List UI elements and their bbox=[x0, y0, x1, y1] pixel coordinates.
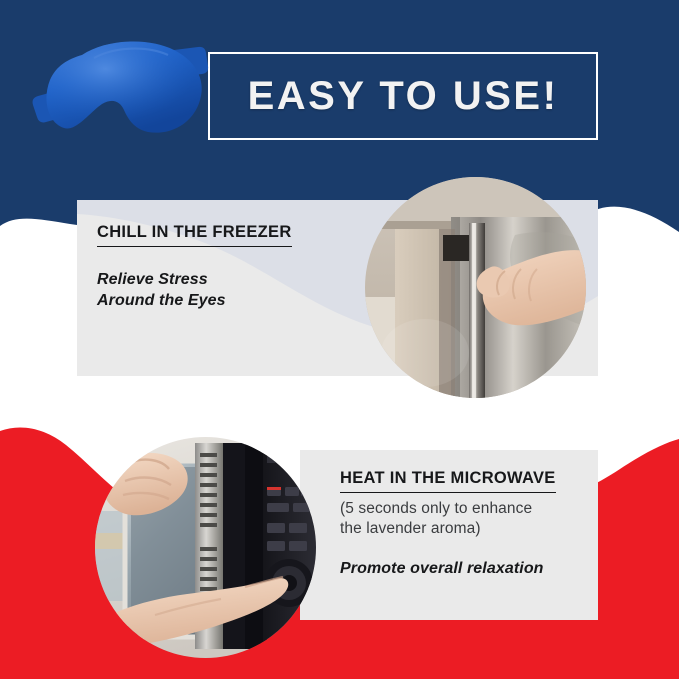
refrigerator-photo-graphic bbox=[365, 177, 586, 398]
step-text-chill: CHILL IN THE FREEZER Relieve Stress Arou… bbox=[97, 222, 347, 311]
step-note-heat-line1: (5 seconds only to enhance bbox=[340, 499, 590, 519]
eye-mask-product-image bbox=[24, 28, 234, 168]
step-heading-heat: HEAT IN THE MICROWAVE bbox=[340, 468, 556, 493]
step-benefit-chill-line1: Relieve Stress bbox=[97, 269, 347, 290]
step-heading-chill: CHILL IN THE FREEZER bbox=[97, 222, 292, 247]
microwave-photo-graphic bbox=[95, 437, 316, 658]
photo-refrigerator bbox=[365, 177, 586, 398]
step-benefit-heat: Promote overall relaxation bbox=[340, 558, 590, 579]
infographic-canvas: EASY TO USE! CHILL IN THE FREEZER Reliev… bbox=[0, 0, 679, 679]
photo-microwave bbox=[95, 437, 316, 658]
mask-highlight bbox=[46, 42, 201, 133]
step-note-heat-line2: the lavender aroma) bbox=[340, 519, 590, 539]
headline-box: EASY TO USE! bbox=[208, 52, 598, 140]
step-text-heat: HEAT IN THE MICROWAVE (5 seconds only to… bbox=[340, 468, 590, 579]
page-title: EASY TO USE! bbox=[248, 76, 559, 116]
eye-mask-graphic bbox=[24, 28, 234, 168]
step-benefit-chill-line2: Around the Eyes bbox=[97, 290, 347, 311]
